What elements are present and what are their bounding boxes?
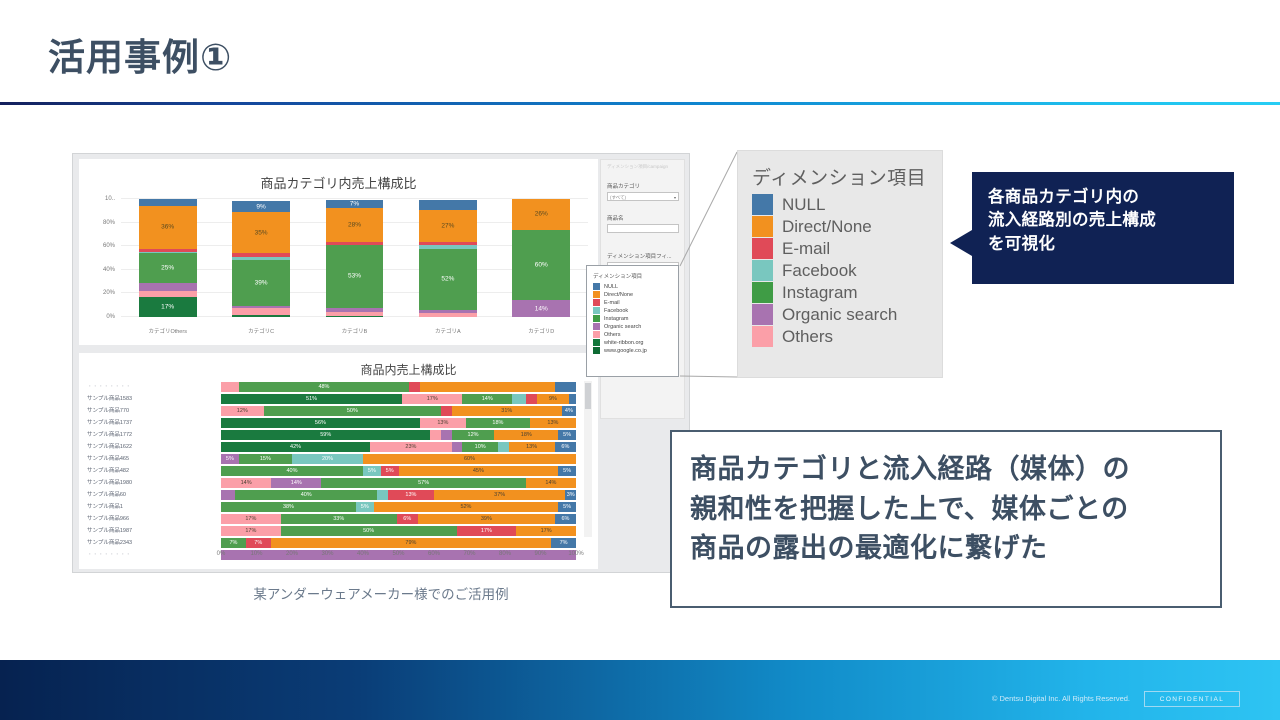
- x-axis-tick: 20%: [286, 551, 298, 557]
- bar-value-label: 3%: [565, 492, 576, 498]
- bar-segment: 5%: [558, 466, 576, 476]
- legend-label: Organic search: [782, 305, 897, 325]
- bar-value-label: 26%: [512, 211, 570, 218]
- bar-segment: 5%: [558, 430, 576, 440]
- bar-segment: 79%: [271, 538, 551, 548]
- product-name: サンプル商品1772: [87, 429, 215, 441]
- legend-label: Others: [782, 327, 833, 347]
- legend-item: Organic search: [593, 323, 678, 330]
- product-name: サンプル商品2343: [87, 537, 215, 549]
- product-bar-row: 14%14%57%14%: [221, 477, 576, 489]
- x-axis-tick: 30%: [321, 551, 333, 557]
- bar-segment: 38%: [221, 502, 356, 512]
- bar-segment: [419, 245, 477, 249]
- bar-segment: 7%: [246, 538, 271, 548]
- legend-swatch-icon: [752, 216, 773, 237]
- legend-swatch-icon: [752, 304, 773, 325]
- callout-line-2: 流入経路別の売上構成: [988, 209, 1234, 232]
- bar-segment: 7%: [551, 538, 576, 548]
- bar-value-label: 17%: [221, 528, 281, 534]
- statement-line-3: 商品の露出の最適化に繋げた: [690, 529, 1220, 569]
- confidential-badge: CONFIDENTIAL: [1144, 691, 1240, 707]
- bar-segment: 60%: [512, 230, 570, 301]
- callout-box: 各商品カテゴリ内の 流入経路別の売上構成 を可視化: [972, 172, 1234, 284]
- bar-segment: 59%: [221, 430, 430, 440]
- chart-scrollbar[interactable]: [584, 381, 592, 537]
- bar-segment: 10%: [462, 442, 498, 452]
- product-bar-row: 12%50%31%4%: [221, 405, 576, 417]
- legend-item: E-mail: [752, 238, 942, 259]
- product-name: ・・・・・・・・: [87, 381, 215, 393]
- copyright-text: © Dentsu Digital Inc. All Rights Reserve…: [992, 694, 1130, 703]
- bar-value-label: 13%: [509, 444, 555, 450]
- x-axis-tick: カテゴリD: [495, 327, 588, 335]
- bar-segment: 25%: [139, 253, 197, 283]
- bar-value-label: 9%: [232, 203, 290, 210]
- bar-value-label: 60%: [512, 262, 570, 269]
- filter-faint-top-label: ディメンション項目/campaign: [607, 164, 668, 170]
- bar-segment: 17%: [402, 394, 462, 404]
- legend-swatch-icon: [593, 347, 600, 354]
- bar-value-label: 5%: [221, 456, 239, 462]
- dashboard-main-area: 商品カテゴリ内売上構成比 0%20%40%60%80%10..17%25%36%…: [79, 159, 598, 569]
- bar-segment: 17%: [516, 526, 576, 536]
- category-sales-chart: 商品カテゴリ内売上構成比 0%20%40%60%80%10..17%25%36%…: [79, 159, 598, 345]
- legend-label: NULL: [782, 195, 825, 215]
- bar-segment: 27%: [419, 210, 477, 242]
- bar-segment: [221, 382, 239, 392]
- bar-segment: 17%: [457, 526, 517, 536]
- legend-swatch-icon: [752, 194, 773, 215]
- filter-category-label: 商品カテゴリ: [607, 182, 640, 190]
- bar-column: 17%25%36%: [139, 199, 197, 317]
- bar-value-label: 7%: [221, 540, 246, 546]
- product-bar-row: 56%13%18%13%: [221, 417, 576, 429]
- x-axis-tick: 60%: [428, 551, 440, 557]
- product-name: ・・・・・・・・: [87, 549, 215, 561]
- bar-segment: 5%: [363, 466, 381, 476]
- bar-segment: 7%: [326, 200, 384, 208]
- bar-segment: 57%: [321, 478, 525, 488]
- legend-item: Direct/None: [752, 216, 942, 237]
- dimension-legend-zoomed: ディメンション項目 NULLDirect/NoneE-mailFacebookI…: [737, 150, 943, 378]
- bar-value-label: 27%: [419, 222, 477, 229]
- product-name: サンプル商品1980: [87, 477, 215, 489]
- bar-column: 14%60%26%: [512, 199, 570, 317]
- bar-segment: 13%: [509, 442, 555, 452]
- bar-value-label: 52%: [419, 276, 477, 283]
- bar-segment: 53%: [326, 245, 384, 308]
- bar-segment: 14%: [526, 478, 576, 488]
- bar-value-label: 14%: [512, 305, 570, 312]
- filter-category-select[interactable]: (すべて) ▾: [607, 192, 679, 201]
- bar-value-label: 18%: [494, 432, 558, 438]
- x-axis-tick: 10%: [250, 551, 262, 557]
- bar-value-label: 25%: [139, 265, 197, 272]
- bar-value-label: 10%: [462, 444, 498, 450]
- legend-item: Direct/None: [593, 291, 678, 298]
- bar-segment: [498, 442, 509, 452]
- bar-segment: 13%: [388, 490, 434, 500]
- chart-scrollbar-thumb[interactable]: [585, 383, 591, 409]
- bar-segment: [139, 249, 197, 253]
- bar-segment: [452, 442, 463, 452]
- product-sales-chart: 商品内売上構成比 ・・・・・・・・サンプル商品1583サンプル商品770サンプル…: [79, 353, 598, 569]
- product-bar-row: 17%33%6%39%6%: [221, 513, 576, 525]
- x-axis-tick: 90%: [534, 551, 546, 557]
- bar-segment: [326, 312, 384, 316]
- product-bar-row: 48%: [221, 381, 576, 393]
- filter-product-label: 商品名: [607, 214, 624, 222]
- dimension-legend-small-title: ディメンション項目: [593, 272, 678, 280]
- bar-segment: 42%: [221, 442, 370, 452]
- legend-swatch-icon: [593, 299, 600, 306]
- legend-label: Others: [604, 332, 621, 338]
- legend-item: Others: [752, 326, 942, 347]
- filter-category-value: (すべて): [610, 195, 626, 200]
- product-name: サンプル商品60: [87, 489, 215, 501]
- legend-label: Instagram: [782, 283, 858, 303]
- legend-item: NULL: [593, 283, 678, 290]
- bar-column: 39%35%9%: [232, 199, 290, 317]
- legend-swatch-icon: [593, 331, 600, 338]
- bar-value-label: 13%: [530, 420, 576, 426]
- bar-value-label: 5%: [558, 432, 576, 438]
- bar-value-label: 14%: [221, 480, 271, 486]
- legend-swatch-icon: [593, 307, 600, 314]
- bar-segment: 36%: [139, 206, 197, 248]
- bar-value-label: 60%: [363, 456, 576, 462]
- product-bar-row: 38%5%52%5%: [221, 501, 576, 513]
- x-axis-tick: 50%: [392, 551, 404, 557]
- bar-segment: 5%: [221, 454, 239, 464]
- bar-segment: [326, 316, 384, 317]
- category-sales-plot: 0%20%40%60%80%10..17%25%36%カテゴリOthers39%…: [121, 199, 588, 317]
- bar-segment: [139, 291, 197, 297]
- chevron-down-icon: ▾: [674, 193, 676, 202]
- callout-tail: [950, 230, 972, 256]
- bar-value-label: 18%: [466, 420, 530, 426]
- statement-line-2: 親和性を把握した上で、媒体ごとの: [690, 490, 1220, 530]
- bar-value-label: 5%: [381, 468, 399, 474]
- bar-value-label: 7%: [246, 540, 271, 546]
- product-name: サンプル商品465: [87, 453, 215, 465]
- bar-segment: 18%: [494, 430, 558, 440]
- product-bar-row: 59%12%18%5%: [221, 429, 576, 441]
- legend-label: Direct/None: [782, 217, 872, 237]
- y-axis-tick: 10..: [83, 196, 115, 202]
- bar-segment: 48%: [239, 382, 409, 392]
- bar-segment: [326, 308, 384, 313]
- bar-segment: 7%: [221, 538, 246, 548]
- product-x-axis: 0%10%20%30%40%50%60%70%80%90%100%: [221, 551, 576, 561]
- product-name: サンプル商品1987: [87, 525, 215, 537]
- bar-segment: 12%: [221, 406, 264, 416]
- bar-value-label: 40%: [221, 468, 363, 474]
- bar-segment: 28%: [326, 208, 384, 241]
- bar-segment: 23%: [370, 442, 452, 452]
- bar-value-label: 59%: [221, 432, 430, 438]
- legend-label: E-mail: [604, 300, 620, 306]
- category-sales-chart-title: 商品カテゴリ内売上構成比: [79, 173, 598, 192]
- bar-value-label: 56%: [221, 420, 420, 426]
- product-name: サンプル商品1737: [87, 417, 215, 429]
- product-bar-row: 7%7%79%7%: [221, 537, 576, 549]
- bar-value-label: 6%: [555, 444, 576, 450]
- bar-segment: [221, 490, 235, 500]
- legend-item: Instagram: [752, 282, 942, 303]
- bar-segment: 14%: [221, 478, 271, 488]
- bar-segment: 26%: [512, 199, 570, 230]
- bar-segment: 51%: [221, 394, 402, 404]
- bar-segment: [420, 382, 555, 392]
- filter-dimension-label: ディメンション項目フィ...: [607, 252, 672, 260]
- bar-value-label: 50%: [264, 408, 442, 414]
- bar-value-label: 17%: [139, 303, 197, 310]
- bar-segment: [139, 283, 197, 291]
- legend-item: Instagram: [593, 315, 678, 322]
- bar-value-label: 12%: [452, 432, 495, 438]
- legend-label: Organic search: [604, 324, 641, 330]
- bar-segment: 6%: [397, 514, 418, 524]
- bar-value-label: 7%: [551, 540, 576, 546]
- legend-label: Facebook: [604, 308, 628, 314]
- bar-segment: [232, 315, 290, 317]
- bar-segment: 14%: [271, 478, 321, 488]
- statement-line-1: 商品カテゴリと流入経路（媒体）の: [690, 450, 1220, 490]
- legend-item: NULL: [752, 194, 942, 215]
- bar-segment: [441, 430, 452, 440]
- bar-value-label: 13%: [388, 492, 434, 498]
- bar-segment: 39%: [232, 260, 290, 306]
- bar-segment: 17%: [221, 526, 281, 536]
- bar-segment: [526, 394, 537, 404]
- bar-segment: 15%: [239, 454, 292, 464]
- bar-segment: 45%: [399, 466, 559, 476]
- product-bars: 48%51%17%14%9%12%50%31%4%56%13%18%13%59%…: [221, 381, 576, 561]
- dimension-legend-small: ディメンション項目 NULLDirect/NoneE-mailFacebookI…: [586, 265, 679, 377]
- bar-segment: 52%: [419, 249, 477, 310]
- bar-segment: [555, 382, 576, 392]
- bar-value-label: 7%: [326, 201, 384, 208]
- bar-value-label: 53%: [326, 273, 384, 280]
- legend-item: www.google.co.jp: [593, 347, 678, 354]
- header-divider: [0, 102, 1280, 105]
- bar-segment: [441, 406, 452, 416]
- y-axis-tick: 0%: [83, 314, 115, 320]
- bar-segment: [569, 394, 576, 404]
- bar-segment: 9%: [232, 201, 290, 212]
- statement-box: 商品カテゴリと流入経路（媒体）の 親和性を把握した上で、媒体ごとの 商品の露出の…: [670, 430, 1222, 608]
- bar-segment: 3%: [565, 490, 576, 500]
- bar-value-label: 40%: [235, 492, 377, 498]
- product-sales-chart-title: 商品内売上構成比: [219, 361, 598, 378]
- bar-value-label: 17%: [402, 396, 462, 402]
- legend-swatch-icon: [752, 282, 773, 303]
- bar-value-label: 33%: [281, 516, 397, 522]
- legend-swatch-icon: [752, 238, 773, 259]
- legend-swatch-icon: [593, 291, 600, 298]
- bar-segment: [232, 306, 290, 307]
- product-bar-row: 51%17%14%9%: [221, 393, 576, 405]
- product-name: サンプル商品1: [87, 501, 215, 513]
- bar-segment: [430, 430, 441, 440]
- bar-segment: 50%: [281, 526, 457, 536]
- bar-value-label: 48%: [239, 384, 409, 390]
- dimension-legend-zoomed-items: NULLDirect/NoneE-mailFacebookInstagramOr…: [738, 194, 942, 347]
- bar-value-label: 20%: [292, 456, 363, 462]
- product-bar-row: 17%50%17%17%: [221, 525, 576, 537]
- legend-swatch-icon: [593, 323, 600, 330]
- bar-column: 53%28%7%: [326, 199, 384, 317]
- bar-value-label: 50%: [281, 528, 457, 534]
- bar-value-label: 14%: [271, 480, 321, 486]
- bar-value-label: 45%: [399, 468, 559, 474]
- bar-segment: [232, 257, 290, 261]
- bar-value-label: 39%: [232, 280, 290, 287]
- product-name-list: ・・・・・・・・サンプル商品1583サンプル商品770サンプル商品1737サンプ…: [87, 381, 215, 561]
- dashboard-caption: 某アンダーウェアメーカー様でのご活用例: [72, 583, 690, 603]
- bar-value-label: 17%: [221, 516, 281, 522]
- x-axis-tick: カテゴリB: [308, 327, 401, 335]
- bar-segment: 18%: [466, 418, 530, 428]
- bar-segment: [419, 313, 477, 317]
- bar-value-label: 39%: [418, 516, 555, 522]
- bar-value-label: 52%: [374, 504, 559, 510]
- legend-item: E-mail: [593, 299, 678, 306]
- bar-segment: [326, 242, 384, 246]
- bar-segment: 17%: [221, 514, 281, 524]
- bar-segment: 12%: [452, 430, 495, 440]
- product-bar-row: 40%5%5%45%5%: [221, 465, 576, 477]
- legend-swatch-icon: [593, 315, 600, 322]
- legend-item: white-ribbon.org: [593, 339, 678, 346]
- bar-segment: 14%: [512, 300, 570, 317]
- bar-value-label: 79%: [271, 540, 551, 546]
- bar-segment: [409, 382, 420, 392]
- bar-segment: 9%: [537, 394, 569, 404]
- product-name: サンプル商品770: [87, 405, 215, 417]
- bar-value-label: 6%: [397, 516, 418, 522]
- bar-segment: 52%: [374, 502, 559, 512]
- product-name: サンプル商品966: [87, 513, 215, 525]
- y-axis-tick: 60%: [83, 243, 115, 249]
- bar-value-label: 36%: [139, 224, 197, 231]
- bar-segment: 40%: [221, 466, 363, 476]
- page-title: 活用事例①: [48, 38, 232, 79]
- bar-value-label: 14%: [526, 480, 576, 486]
- legend-swatch-icon: [593, 339, 600, 346]
- legend-swatch-icon: [593, 283, 600, 290]
- filter-product-input[interactable]: [607, 224, 679, 233]
- bar-segment: 5%: [381, 466, 399, 476]
- bar-value-label: 5%: [558, 504, 576, 510]
- bar-value-label: 6%: [555, 516, 576, 522]
- bar-value-label: 37%: [434, 492, 565, 498]
- legend-label: Direct/None: [604, 292, 633, 298]
- bar-segment: 5%: [356, 502, 374, 512]
- bar-segment: 39%: [418, 514, 555, 524]
- bar-segment: 33%: [281, 514, 397, 524]
- legend-swatch-icon: [752, 260, 773, 281]
- x-axis-tick: 80%: [499, 551, 511, 557]
- legend-item: Facebook: [752, 260, 942, 281]
- x-axis-tick: 70%: [463, 551, 475, 557]
- product-name: サンプル商品1583: [87, 393, 215, 405]
- legend-label: NULL: [604, 284, 618, 290]
- product-name: サンプル商品482: [87, 465, 215, 477]
- bar-segment: 56%: [221, 418, 420, 428]
- bar-segment: [419, 200, 477, 209]
- bar-segment: 31%: [452, 406, 562, 416]
- dimension-legend-small-items: NULLDirect/NoneE-mailFacebookInstagramOr…: [587, 283, 678, 354]
- callout-line-1: 各商品カテゴリ内の: [988, 186, 1234, 209]
- bar-segment: 40%: [235, 490, 377, 500]
- bar-value-label: 23%: [370, 444, 452, 450]
- slide-root: 活用事例① 商品カテゴリ内売上構成比 0%20%40%60%80%10..17%…: [0, 0, 1280, 720]
- bar-segment: 5%: [558, 502, 576, 512]
- y-axis-tick: 20%: [83, 290, 115, 296]
- x-axis-tick: カテゴリA: [401, 327, 494, 335]
- bar-value-label: 42%: [221, 444, 370, 450]
- bar-segment: 20%: [292, 454, 363, 464]
- y-axis-tick: 80%: [83, 220, 115, 226]
- bar-value-label: 28%: [326, 222, 384, 229]
- bar-segment: 37%: [434, 490, 565, 500]
- bar-value-label: 5%: [363, 468, 381, 474]
- bar-segment: [377, 490, 388, 500]
- bar-column: 52%27%: [419, 199, 477, 317]
- bar-segment: [232, 308, 290, 315]
- bar-value-label: 51%: [221, 396, 402, 402]
- x-axis-tick: 40%: [357, 551, 369, 557]
- callout-line-3: を可視化: [988, 233, 1234, 256]
- bar-value-label: 57%: [321, 480, 525, 486]
- bar-segment: 6%: [555, 514, 576, 524]
- x-axis-tick: 100%: [568, 551, 583, 557]
- bar-value-label: 17%: [516, 528, 576, 534]
- bar-segment: [232, 253, 290, 257]
- dashboard-divider: [79, 345, 598, 353]
- product-name: サンプル商品1622: [87, 441, 215, 453]
- bar-segment: 35%: [232, 212, 290, 253]
- bar-value-label: 12%: [221, 408, 264, 414]
- dimension-legend-zoomed-title: ディメンション項目: [752, 163, 942, 190]
- legend-label: Instagram: [604, 316, 628, 322]
- bar-segment: 6%: [555, 442, 576, 452]
- product-bar-row: 42%23%10%13%6%: [221, 441, 576, 453]
- product-bar-row: 5%15%20%60%: [221, 453, 576, 465]
- bar-value-label: 9%: [537, 396, 569, 402]
- bar-value-label: 17%: [457, 528, 517, 534]
- bar-segment: 50%: [264, 406, 442, 416]
- legend-item: Facebook: [593, 307, 678, 314]
- bar-value-label: 13%: [420, 420, 466, 426]
- bar-segment: 14%: [462, 394, 512, 404]
- bar-segment: [419, 242, 477, 246]
- y-axis-tick: 40%: [83, 267, 115, 273]
- legend-item: Organic search: [752, 304, 942, 325]
- legend-swatch-icon: [752, 326, 773, 347]
- bar-segment: 13%: [420, 418, 466, 428]
- bar-value-label: 4%: [562, 408, 576, 414]
- statement-text: 商品カテゴリと流入経路（媒体）の 親和性を把握した上で、媒体ごとの 商品の露出の…: [672, 432, 1220, 569]
- bar-value-label: 38%: [221, 504, 356, 510]
- x-axis-tick: カテゴリOthers: [121, 327, 214, 335]
- legend-label: white-ribbon.org: [604, 340, 643, 346]
- legend-item: Others: [593, 331, 678, 338]
- bar-segment: 13%: [530, 418, 576, 428]
